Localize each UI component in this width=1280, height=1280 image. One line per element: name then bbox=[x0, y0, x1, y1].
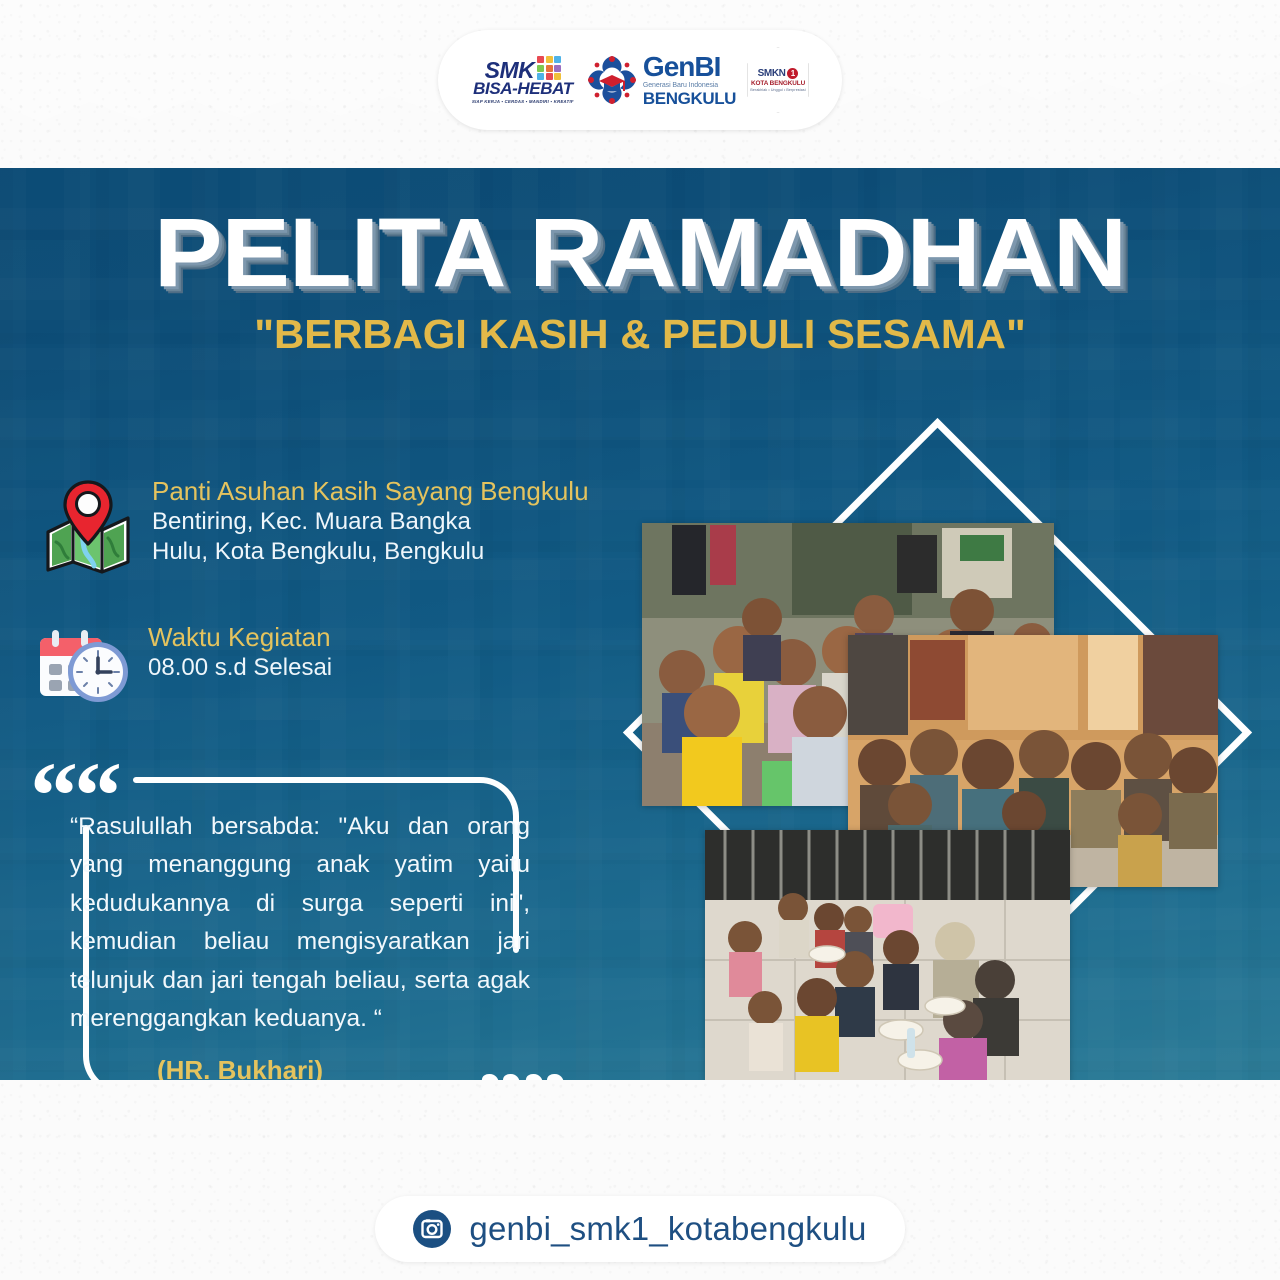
calendar-clock-icon bbox=[34, 626, 130, 706]
smk-logo-word: SMK bbox=[485, 60, 535, 81]
smkn1-kota-bengkulu-logo: SMKN 1 KOTA BENGKULU Berakhlak • Unggul … bbox=[747, 47, 809, 113]
smk-logo-blocks-icon bbox=[537, 56, 561, 80]
genbi-swirl-icon bbox=[586, 54, 638, 106]
location-heading: Panti Asuhan Kasih Sayang Bengkulu bbox=[152, 476, 589, 507]
quote-source: (HR. Bukhari) bbox=[70, 1055, 530, 1086]
location-line-2: Hulu, Kota Bengkulu, Bengkulu bbox=[152, 537, 589, 568]
page-title: PELITA RAMADHAN bbox=[0, 206, 1280, 299]
smkn-logo-number: 1 bbox=[787, 68, 798, 79]
smkn-logo-city: KOTA BENGKULU bbox=[751, 80, 805, 87]
map-pin-icon bbox=[42, 476, 134, 574]
genbi-logo-main: GenBI bbox=[643, 53, 736, 81]
smkn-logo-word: SMKN bbox=[758, 68, 786, 79]
quote-body: “Rasulullah bersabda: "Aku dan orang yan… bbox=[70, 808, 530, 1086]
title-block: PELITA RAMADHAN "BERBAGI KASIH & PEDULI … bbox=[0, 206, 1280, 358]
genbi-logo-sub: Generasi Baru Indonesia bbox=[643, 82, 736, 89]
time-heading: Waktu Kegiatan bbox=[148, 622, 332, 653]
time-info-block: Waktu Kegiatan 08.00 s.d Selesai bbox=[34, 622, 332, 706]
instagram-handle-text: genbi_smk1_kotabengkulu bbox=[469, 1210, 866, 1248]
time-value: 08.00 s.d Selesai bbox=[148, 653, 332, 684]
photo-children-eating-together bbox=[705, 830, 1070, 1082]
instagram-icon bbox=[413, 1210, 451, 1248]
photo-collage bbox=[600, 425, 1280, 1115]
smkn-logo-tagline: Berakhlak • Unggul • Berprestasi bbox=[750, 88, 805, 92]
genbi-logo-city: BENGKULU bbox=[643, 90, 736, 107]
genbi-logo: GenBI Generasi Baru Indonesia BENGKULU bbox=[586, 53, 736, 107]
quote-text: “Rasulullah bersabda: "Aku dan orang yan… bbox=[70, 808, 530, 1039]
poster-root: PELITA RAMADHAN "BERBAGI KASIH & PEDULI … bbox=[0, 0, 1280, 1280]
page-subtitle: "BERBAGI KASIH & PEDULI SESAMA" bbox=[0, 311, 1280, 358]
instagram-handle-bar[interactable]: genbi_smk1_kotabengkulu bbox=[375, 1196, 905, 1262]
quote-block: ““ ”” “Rasulullah bersabda: "Aku dan ora… bbox=[28, 762, 568, 1110]
smk-bisa-hebat-logo: SMK BISA-HEBAT SIAP KERJA • CERDAS • MAN… bbox=[471, 56, 575, 104]
location-text: Panti Asuhan Kasih Sayang Bengkulu Benti… bbox=[152, 476, 589, 568]
time-text: Waktu Kegiatan 08.00 s.d Selesai bbox=[148, 622, 332, 683]
location-line-1: Bentiring, Kec. Muara Bangka bbox=[152, 507, 589, 538]
smk-logo-hebat: BISA-HEBAT bbox=[473, 80, 573, 97]
location-info-block: Panti Asuhan Kasih Sayang Bengkulu Benti… bbox=[42, 476, 589, 574]
smk-logo-tagline: SIAP KERJA • CERDAS • MANDIRI • KREATIF bbox=[472, 99, 575, 104]
logo-bar: SMK BISA-HEBAT SIAP KERJA • CERDAS • MAN… bbox=[438, 30, 842, 130]
